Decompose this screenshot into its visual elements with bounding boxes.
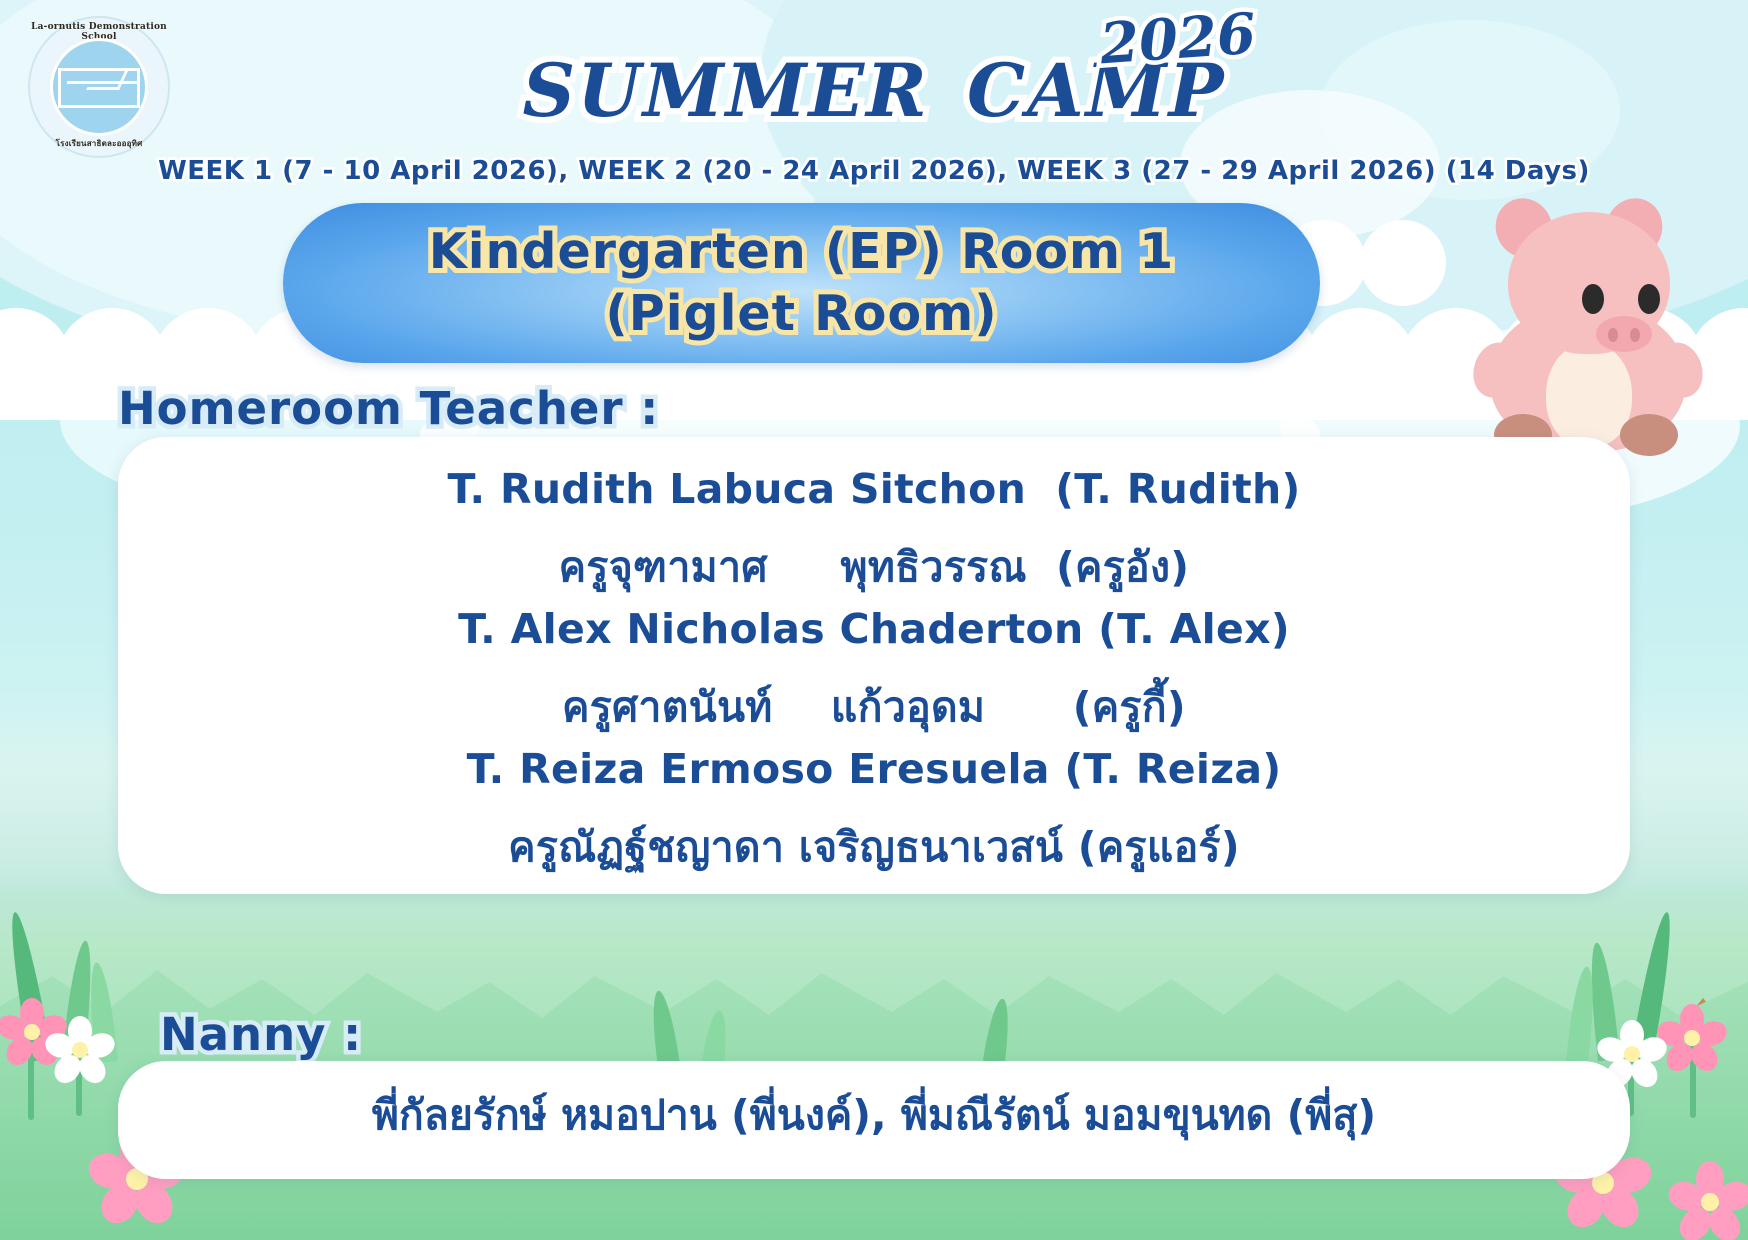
homeroom-teacher-label: Homeroom Teacher :	[118, 382, 659, 435]
teacher-row-1: T. Rudith Labuca Sitchon (T. Rudith)	[118, 465, 1630, 513]
camp-weeks-line: WEEK 1 (7 - 10 April 2026), WEEK 2 (20 -…	[0, 156, 1748, 186]
teacher-row-3: T. Alex Nicholas Chaderton (T. Alex)	[118, 605, 1630, 653]
nanny-names: พี่กัลยรักษ์ หมอปาน (พี่นงค์), พี่มณีรัต…	[118, 1083, 1630, 1148]
teacher-row-5: T. Reiza Ermoso Eresuela (T. Reiza)	[118, 745, 1630, 793]
teacher-row-4: ครูศาตนันท์ แก้วอุดม (ครูกี้)	[118, 675, 1630, 740]
nanny-card: พี่กัลยรักษ์ หมอปาน (พี่นงค์), พี่มณีรัต…	[118, 1061, 1630, 1179]
pig-snout	[1596, 316, 1652, 352]
pig-eye-right	[1638, 284, 1660, 314]
pig-head	[1508, 212, 1670, 354]
pig-belly	[1546, 342, 1632, 447]
room-name-line-2: (Piglet Room)	[605, 283, 997, 345]
pig-hoof-right	[1620, 414, 1678, 456]
poster-canvas: La-ornutis Demonstration School โรงเรียน…	[0, 0, 1748, 1240]
pig-nostril-left	[1608, 328, 1618, 342]
room-banner: Kindergarten (EP) Room 1 (Piglet Room)	[283, 203, 1320, 363]
title-block: summer camp	[0, 28, 1748, 132]
teacher-row-2: ครูจุฑามาศ พุทธิวรรณ (ครูอัง)	[118, 535, 1630, 600]
title-year: 2026	[1098, 1, 1258, 78]
logo-text-bottom: โรงเรียนสาธิตละอออุทิศ	[28, 137, 170, 150]
nanny-label: Nanny :	[160, 1008, 362, 1061]
pig-eye-left	[1582, 284, 1604, 314]
homeroom-teacher-card: T. Rudith Labuca Sitchon (T. Rudith) ครู…	[118, 437, 1630, 894]
teacher-row-6: ครูณัฏฐ์ชญาดา เจริญธนาเวสน์ (ครูแอร์)	[118, 815, 1630, 880]
pig-nostril-right	[1630, 328, 1640, 342]
room-name-line-1: Kindergarten (EP) Room 1	[429, 221, 1175, 283]
